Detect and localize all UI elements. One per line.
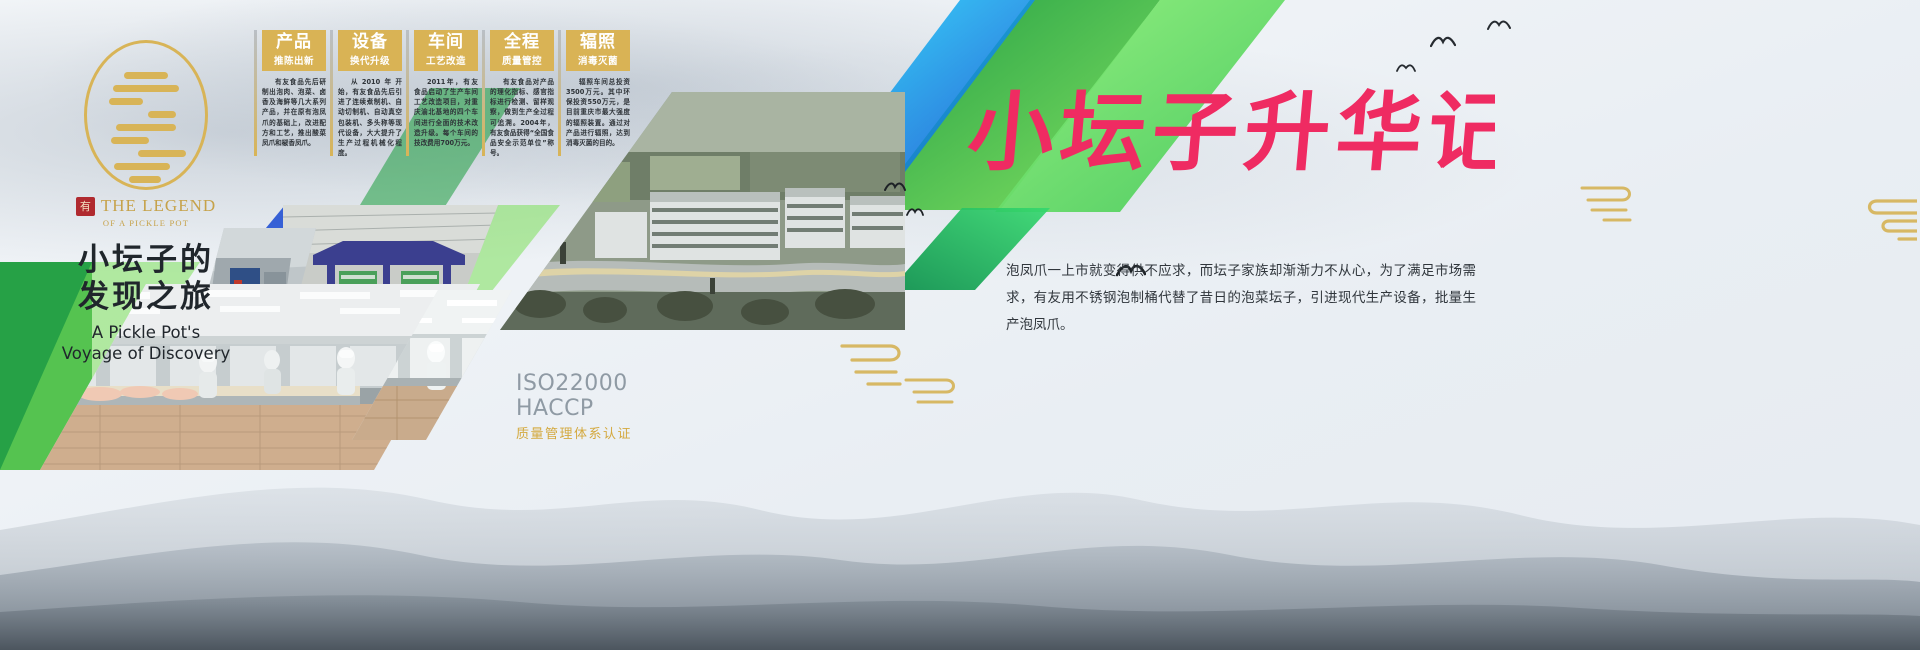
- seal-stamp-icon: 有: [76, 197, 95, 216]
- column-rule: [330, 30, 333, 156]
- cloud-ornament-icon: [1578, 180, 1644, 226]
- brand-en-lines: A Pickle Pot's Voyage of Discovery: [46, 323, 246, 364]
- info-column-product: 产品 推陈出新 有友食品先后研制出泡肉、泡菜、卤香及海鲜等几大系列产品，并在原有…: [262, 30, 326, 148]
- legend-lockup: 有 THE LEGEND: [46, 196, 246, 216]
- column-header: 设备 换代升级: [338, 30, 402, 71]
- column-title: 车间: [418, 33, 474, 52]
- column-subtitle: 换代升级: [342, 53, 398, 67]
- info-column-quality: 全程 质量管控 有友食品对产品的理化指标、感官指标进行检测、留样观察，做到生产全…: [490, 30, 554, 158]
- column-header: 辐照 消毒灭菌: [566, 30, 630, 71]
- column-body: 2011年，有友食品启动了生产车间工艺改造项目，对重庆渝北基地的四个车间进行全面…: [414, 77, 478, 149]
- bird-icon: [1487, 18, 1511, 33]
- headline-calligraphy: 小坛子升华记: [955, 78, 1495, 188]
- cert-line-iso: ISO22000: [516, 372, 632, 397]
- column-title: 辐照: [570, 33, 626, 52]
- legend-sub-text: OF A PICKLE POT: [46, 218, 246, 228]
- column-subtitle: 推陈出新: [266, 53, 322, 67]
- column-rule: [406, 30, 409, 156]
- brand-cn-line1: 小坛子的: [46, 242, 246, 279]
- column-body: 辐照车间总投资3500万元。其中环保投资550万元，是目前重庆市最大强度的辐照装…: [566, 77, 630, 149]
- cert-line-haccp: HACCP: [516, 397, 632, 422]
- column-rule: [482, 30, 485, 156]
- cloud-ornament-icon: [1855, 195, 1917, 249]
- column-header: 车间 工艺改造: [414, 30, 478, 71]
- column-rule: [558, 30, 561, 156]
- column-subtitle: 工艺改造: [418, 53, 474, 67]
- bird-icon: [1430, 34, 1456, 50]
- column-subtitle: 质量管控: [494, 53, 550, 67]
- column-subtitle: 消毒灭菌: [570, 53, 626, 67]
- column-title: 设备: [342, 33, 398, 52]
- column-rule: [254, 30, 257, 156]
- certification-badge: ISO22000 HACCP 质量管理体系认证: [516, 372, 632, 442]
- brand-en-line2: Voyage of Discovery: [46, 344, 246, 365]
- brand-cn-line2: 发现之旅: [46, 279, 246, 316]
- column-body: 有友食品先后研制出泡肉、泡菜、卤香及海鲜等几大系列产品，并在原有泡凤爪的基础上，…: [262, 77, 326, 149]
- pickle-pot-seal-icon: [84, 40, 208, 190]
- column-title: 全程: [494, 33, 550, 52]
- brand-block: 有 THE LEGEND OF A PICKLE POT 小坛子的 发现之旅 A…: [46, 40, 246, 364]
- headline-text: 小坛子升华记: [964, 82, 1495, 183]
- bird-icon: [1396, 62, 1416, 75]
- poster-canvas: 有 THE LEGEND OF A PICKLE POT 小坛子的 发现之旅 A…: [0, 0, 1920, 650]
- brand-en-line1: A Pickle Pot's: [46, 323, 246, 344]
- column-title: 产品: [266, 33, 322, 52]
- cert-line-cn: 质量管理体系认证: [516, 423, 632, 442]
- column-header: 产品 推陈出新: [262, 30, 326, 71]
- legend-en-text: THE LEGEND: [101, 196, 216, 216]
- info-column-irradiation: 辐照 消毒灭菌 辐照车间总投资3500万元。其中环保投资550万元，是目前重庆市…: [566, 30, 630, 148]
- body-paragraph: 泡凤爪一上市就变得供不应求，而坛子家族却渐渐力不从心，为了满足市场需求，有友用不…: [1006, 258, 1476, 339]
- info-column-equipment: 设备 换代升级 从2010年开始，有友食品先后引进了连续煮制机、自动切制机、自动…: [338, 30, 402, 158]
- bird-icon: [906, 206, 924, 218]
- column-body: 有友食品对产品的理化指标、感官指标进行检测、留样观察，做到生产全过程可追溯。20…: [490, 77, 554, 159]
- column-body: 从2010年开始，有友食品先后引进了连续煮制机、自动切制机、自动真空包装机、多头…: [338, 77, 402, 159]
- info-column-workshop: 车间 工艺改造 2011年，有友食品启动了生产车间工艺改造项目，对重庆渝北基地的…: [414, 30, 478, 148]
- column-header: 全程 质量管控: [490, 30, 554, 71]
